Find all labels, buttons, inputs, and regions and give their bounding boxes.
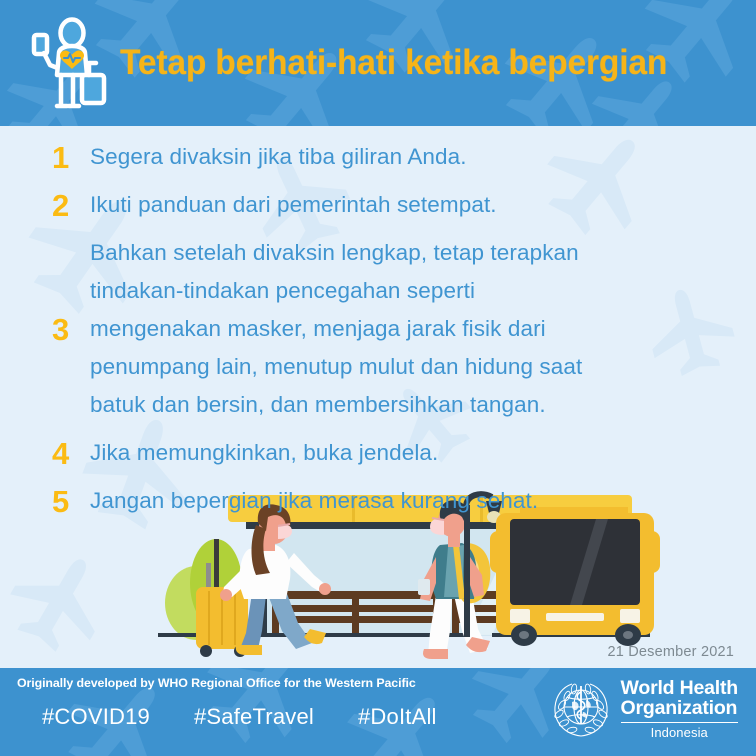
poster-canvas: Tetap berhati-hati ketika bepergian 1 Se…: [0, 0, 756, 756]
list-item-number: 2: [52, 190, 90, 221]
list-item-line: batuk dan bersin, dan membersihkan tanga…: [90, 386, 722, 424]
list-item: 3 Bahkan setelah divaksin lengkap, tetap…: [0, 234, 756, 424]
date-stamp: 21 Desember 2021: [607, 644, 734, 660]
who-name-line1: World Health: [621, 678, 739, 698]
credit-line: Originally developed by WHO Regional Off…: [17, 676, 416, 690]
list-item-text: Jangan bepergian jika merasa kurang seha…: [90, 482, 722, 520]
list-item-number: 3: [52, 314, 90, 345]
list-item-line: Ikuti panduan dari pemerintah setempat.: [90, 186, 722, 224]
list-item-line: Jangan bepergian jika merasa kurang seha…: [90, 482, 722, 520]
traveler-with-suitcase-icon: [26, 13, 110, 113]
list-item: 1 Segera divaksin jika tiba giliran Anda…: [0, 138, 756, 176]
page-title: Tetap berhati-hati ketika bepergian: [120, 43, 667, 83]
list-item-number: 1: [52, 142, 90, 173]
header-bar: Tetap berhati-hati ketika bepergian: [0, 0, 756, 126]
hashtag-doitall[interactable]: #DoItAll: [358, 704, 437, 730]
hashtag-covid19[interactable]: #COVID19: [42, 704, 150, 730]
list-item-number: 4: [52, 438, 90, 469]
list-item-line: Segera divaksin jika tiba giliran Anda.: [90, 138, 722, 176]
list-item-line: tindakan-tindakan pencegahan seperti: [90, 272, 722, 310]
list-item-line: mengenakan masker, menjaga jarak fisik d…: [90, 310, 722, 348]
list-item: 4 Jika memungkinkan, buka jendela.: [0, 434, 756, 472]
who-name-line2: Organization: [621, 698, 739, 718]
who-divider: [621, 722, 739, 723]
footer-bar: Originally developed by WHO Regional Off…: [0, 668, 756, 756]
list-item-line: Bahkan setelah divaksin lengkap, tetap t…: [90, 234, 722, 272]
list-item-line: penumpang lain, menutup mulut dan hidung…: [90, 348, 722, 386]
guidance-list: 1 Segera divaksin jika tiba giliran Anda…: [0, 138, 756, 530]
who-logo: World Health Organization Indonesia: [550, 678, 739, 740]
list-item-line: Jika memungkinkan, buka jendela.: [90, 434, 722, 472]
list-item-number: 5: [52, 486, 90, 517]
list-item: 2 Ikuti panduan dari pemerintah setempat…: [0, 186, 756, 224]
hashtag-list: #COVID19 #SafeTravel #DoItAll: [42, 704, 437, 730]
list-item-text: Bahkan setelah divaksin lengkap, tetap t…: [90, 234, 722, 424]
who-emblem-icon: [550, 678, 612, 740]
hashtag-safetravel[interactable]: #SafeTravel: [194, 704, 314, 730]
list-item-text: Ikuti panduan dari pemerintah setempat.: [90, 186, 722, 224]
list-item: 5 Jangan bepergian jika merasa kurang se…: [0, 482, 756, 520]
who-country-label: Indonesia: [621, 726, 739, 740]
list-item-text: Segera divaksin jika tiba giliran Anda.: [90, 138, 722, 176]
list-item-text: Jika memungkinkan, buka jendela.: [90, 434, 722, 472]
